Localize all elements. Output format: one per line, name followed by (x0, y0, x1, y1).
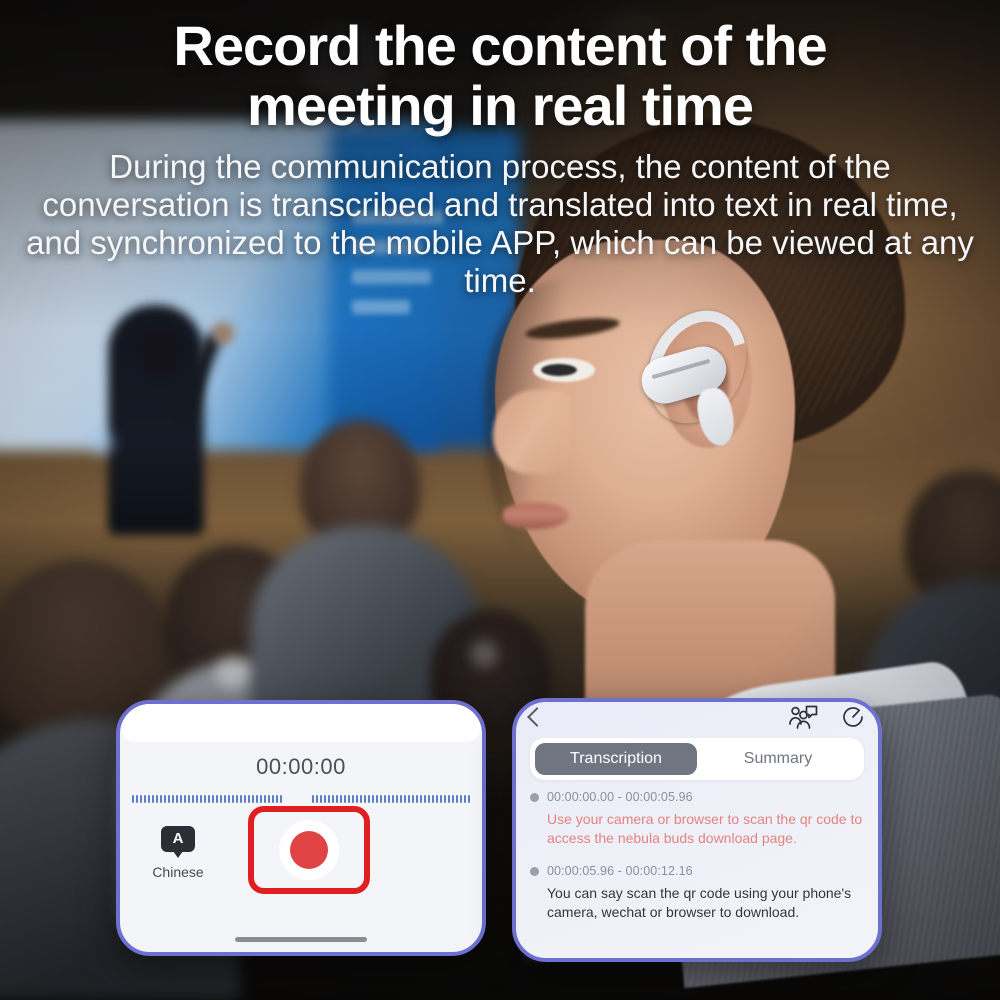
page-title: Record the content of the meeting in rea… (0, 16, 1000, 136)
home-indicator[interactable] (235, 937, 367, 942)
transcription-top-bar (516, 702, 878, 736)
record-button-highlight (248, 806, 370, 894)
transcript-text: You can say scan the qr code using your … (547, 884, 864, 922)
recorder-controls: A Chinese (120, 804, 482, 880)
transcript-timestamp-row: 00:00:05.96 - 00:00:12.16 (530, 864, 864, 878)
speaker-dot-icon (530, 793, 539, 802)
list-item[interactable]: 00:00:05.96 - 00:00:12.16 You can say sc… (530, 864, 864, 922)
language-label: Chinese (146, 864, 210, 880)
nose (493, 390, 571, 474)
promo-banner: Record the content of the meeting in rea… (0, 0, 1000, 1000)
speech-bubble-badge-icon: A (161, 826, 195, 852)
list-item[interactable]: 00:00:00.00 - 00:00:05.96 Use your camer… (530, 790, 864, 848)
record-dot-icon (290, 831, 328, 869)
transcript-text: Use your camera or browser to scan the q… (547, 810, 864, 848)
page-subtitle: During the communication process, the co… (0, 148, 1000, 300)
transcript-timestamp: 00:00:05.96 - 00:00:12.16 (547, 864, 693, 878)
speaker-dot-icon (530, 867, 539, 876)
refresh-circle-icon[interactable] (840, 704, 866, 730)
tab-summary[interactable]: Summary (697, 743, 859, 775)
back-chevron-icon[interactable] (527, 707, 547, 727)
transcription-phone-card: Transcription Summary 00:00:00.00 - 00:0… (512, 698, 882, 962)
people-speech-bubble-icon[interactable] (788, 704, 818, 730)
waveform (120, 780, 482, 804)
transcription-tabs: Transcription Summary (530, 738, 864, 780)
top-bar-icons (788, 704, 866, 730)
transcript-list: 00:00:00.00 - 00:00:05.96 Use your camer… (516, 780, 878, 922)
recording-timer: 00:00:00 (120, 754, 482, 780)
waveform-right-group (312, 794, 470, 804)
transcript-timestamp-row: 00:00:00.00 - 00:00:05.96 (530, 790, 864, 804)
tab-transcription[interactable]: Transcription (535, 743, 697, 775)
eye (533, 358, 595, 382)
recorder-phone-card: 00:00:00 A Chinese (116, 700, 486, 956)
hero-text-block: Record the content of the meeting in rea… (0, 16, 1000, 300)
status-bar (120, 704, 482, 742)
record-button[interactable] (281, 822, 337, 878)
language-selector[interactable]: A Chinese (146, 826, 210, 880)
transcript-timestamp: 00:00:00.00 - 00:00:05.96 (547, 790, 693, 804)
presenter-hand (212, 322, 234, 344)
waveform-left-group (132, 794, 282, 804)
presenter-head (140, 330, 180, 376)
